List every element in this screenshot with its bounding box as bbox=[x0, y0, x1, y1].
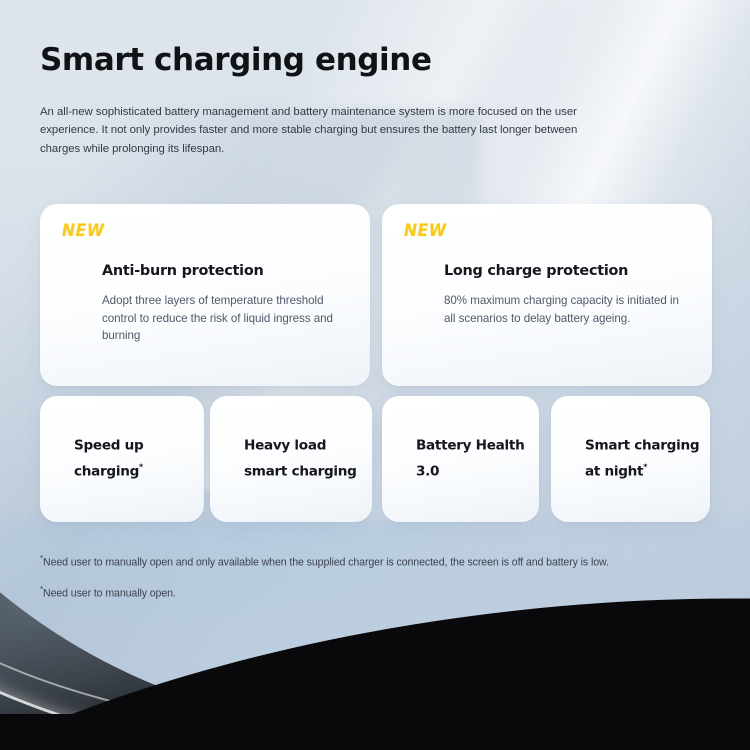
footnote-item: *Need user to manually open. bbox=[40, 582, 712, 602]
feature-tile-label: Speed up charging* bbox=[74, 436, 204, 483]
slide-content: Smart charging engine An all-new sophist… bbox=[0, 0, 750, 750]
feature-tile-label: Battery Health 3.0 bbox=[416, 436, 539, 483]
feature-tile-label: Smart charging at night* bbox=[585, 436, 710, 483]
feature-tile-label: Heavy load smart charging bbox=[244, 436, 372, 483]
feature-card-anti-burn-protection[interactable]: NEW Anti-burn protection Adopt three lay… bbox=[40, 204, 370, 386]
footnote-item: *Need user to manually open and only ava… bbox=[40, 551, 712, 571]
footnote-text: Need user to manually open. bbox=[43, 588, 176, 600]
footnote-marker: * bbox=[643, 463, 647, 472]
feature-tile-text: Battery Health 3.0 bbox=[416, 438, 524, 480]
feature-card-heading: Long charge protection bbox=[444, 263, 628, 279]
feature-tile-battery-health[interactable]: Battery Health 3.0 bbox=[382, 396, 539, 522]
feature-tile-speed-up-charging[interactable]: Speed up charging* bbox=[40, 396, 204, 522]
feature-tile-heavy-load-smart-charging[interactable]: Heavy load smart charging bbox=[210, 396, 372, 522]
page-title: Smart charging engine bbox=[40, 42, 432, 78]
feature-tile-text: Speed up charging bbox=[74, 438, 143, 480]
feature-card-body: Adopt three layers of temperature thresh… bbox=[102, 292, 347, 345]
footnotes-block: *Need user to manually open and only ava… bbox=[40, 551, 712, 602]
feature-tile-text: Smart charging at night bbox=[585, 438, 699, 480]
feature-card-long-charge-protection[interactable]: NEW Long charge protection 80% maximum c… bbox=[382, 204, 712, 386]
feature-card-heading: Anti-burn protection bbox=[102, 263, 263, 279]
footnote-marker: * bbox=[139, 463, 143, 472]
page-subtitle: An all-new sophisticated battery managem… bbox=[40, 103, 604, 158]
slide-canvas: Smart charging engine An all-new sophist… bbox=[0, 0, 750, 750]
footnote-text: Need user to manually open and only avai… bbox=[43, 557, 609, 569]
feature-tile-text: Heavy load smart charging bbox=[244, 438, 357, 480]
feature-tile-smart-charging-at-night[interactable]: Smart charging at night* bbox=[551, 396, 710, 522]
new-badge: NEW bbox=[404, 221, 447, 241]
feature-card-body: 80% maximum charging capacity is initiat… bbox=[444, 292, 689, 327]
new-badge: NEW bbox=[62, 221, 105, 241]
